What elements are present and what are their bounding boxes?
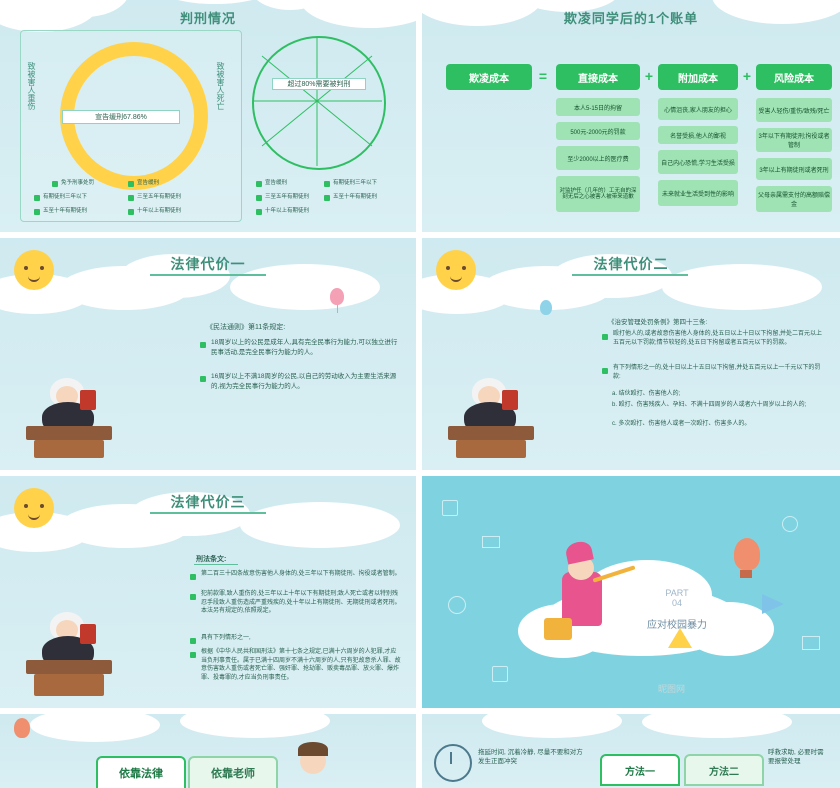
tab-method-1[interactable]: 方法一 xyxy=(600,754,680,786)
judge-desk xyxy=(26,426,112,440)
source-reference: 《民法通则》第11条规定: xyxy=(206,322,285,332)
bullet-dot xyxy=(190,594,196,600)
legend-label: 宣告缓刑 xyxy=(265,178,287,186)
bullet-dot xyxy=(190,638,196,644)
doodle-icon xyxy=(482,536,500,548)
legend-right-item-1: 有期徒刑三年以下 xyxy=(324,178,377,187)
right-chart-note: 超过80%需要被判刑 xyxy=(272,78,366,90)
right-axis-label: 致被害人死亡 xyxy=(215,62,226,110)
book-icon xyxy=(80,390,96,410)
doodle-icon xyxy=(782,516,798,532)
law-bullet-text: 殴打他人的,或者故意伤害他人身体的,处五日以上十日以下拘留,并处二百元以上五百元… xyxy=(613,330,822,347)
cost-item: 本人5-15日的拘留 xyxy=(556,98,640,116)
page-title: 法律代价二 xyxy=(422,254,840,274)
page-title: 判刑情况 xyxy=(0,8,416,27)
polygon-chart-lines xyxy=(252,36,382,166)
legend-left-item-1: 宣告缓刑 xyxy=(128,178,159,187)
legend-dot xyxy=(256,181,262,187)
law-bullet: 根据《中华人民共和国刑法》第十七条之规定,已满十六周岁的人犯罪,才应当负刑事责任… xyxy=(190,648,402,683)
balloon-icon xyxy=(14,718,30,738)
cost-subject-box: 欺凌成本 xyxy=(446,64,532,90)
legend-label: 免予刑事处罚 xyxy=(61,178,94,186)
slide-legal-cost-1: 法律代价一 《民法通则》第11条规定: 18周岁以上的公民是成年人,具有完全民事… xyxy=(0,238,416,470)
bullet-dot xyxy=(200,342,206,348)
law-bullet-text: 根据《中华人民共和国刑法》第十七条之规定,已满十六周岁的人犯罪,才应当负刑事责任… xyxy=(201,648,402,683)
source-reference: 刑法条文: xyxy=(196,554,226,564)
clock-icon xyxy=(434,744,472,782)
book-icon xyxy=(80,624,96,644)
legend-label: 十年以上有期徒刑 xyxy=(265,206,309,214)
title-underline xyxy=(150,512,266,514)
slide-bullying-bill: 欺凌同学后的1个账单 欺凌成本 = 直接成本 + 附加成本 + 风险成本 本人5… xyxy=(422,0,840,232)
doodle-icon xyxy=(492,666,508,682)
law-bullet-text: 有下列情形之一的,处十日以上十五日以下拘留,并处五百元以上一千元以下的罚款: xyxy=(613,364,822,381)
law-bullet: 18周岁以上的公民是成年人,具有完全民事行为能力,可以独立进行民事活动,是完全民… xyxy=(200,338,400,358)
legend-label: 有期徒刑三年以下 xyxy=(333,178,377,186)
law-bullet: 殴打他人的,或者故意伤害他人身体的,处五日以上十日以下拘留,并处二百元以上五百元… xyxy=(602,330,822,347)
slide-judgement-stats: 判刑情况 致被害人重伤 致被害人死亡 宣告缓刑67.86% 超过80%需要被判刑… xyxy=(0,0,416,232)
judge-desk-base xyxy=(456,440,526,458)
law-bullet: 16周岁以上不满18周岁的公民,以自己的劳动收入为主要生活来源的,视为完全民事行… xyxy=(200,372,400,392)
bullet-dot xyxy=(190,652,196,658)
legend-right-item-0: 宣告缓刑 xyxy=(256,178,287,187)
bullet-dot xyxy=(200,376,206,382)
slide-rely-on: 依靠法律 依靠老师 xyxy=(0,714,416,788)
cost-item: 3年以下有期徒刑;拘役或者管制 xyxy=(756,128,832,152)
left-axis-label: 致被害人重伤 xyxy=(26,62,37,110)
legend-left-item-3: 三至五年有期徒刑 xyxy=(128,192,181,201)
legend-left-item-0: 免予刑事处罚 xyxy=(52,178,94,187)
source-underline xyxy=(194,564,238,565)
slide-part-04: PART 04 应对校园暴力 昵图网 xyxy=(422,476,840,708)
legend-right-item-4: 十年以上有期徒刑 xyxy=(256,206,309,215)
legend-label: 三至五年有期徒刑 xyxy=(265,192,309,200)
slide-methods: 拖延时间, 沉着冷静, 尽量不要和对方发生正面冲突 方法一 方法二 呼救求助, … xyxy=(422,714,840,788)
law-bullet: 犯前款罪,致人重伤的,处三年以上十年以下有期徒刑;致人死亡或者以特别残忍手段致人… xyxy=(190,590,402,616)
law-bullet: 有下列情形之一的,处十日以上十五日以下拘留,并处五百元以上一千元以下的罚款: xyxy=(602,364,822,381)
cost-item: 至少2000以上的医疗费 xyxy=(556,146,640,170)
cost-item: 3年以上有期徒刑或者死刑 xyxy=(756,158,832,180)
bullet-dot xyxy=(190,574,196,580)
cost-item: 自己内心恐慌,学习生活受损 xyxy=(658,150,738,174)
bullet-dot xyxy=(602,368,608,374)
page-title: 法律代价一 xyxy=(0,254,416,274)
plus-sign-1: + xyxy=(740,68,754,84)
law-bullet: 具有下列情形之一, xyxy=(190,634,402,644)
source-reference: 《治安管理处罚条例》第四十三条: xyxy=(608,316,707,326)
watermark: 昵图网 xyxy=(658,682,685,695)
legend-dot xyxy=(52,181,58,187)
balloon-icon xyxy=(540,300,552,315)
book-icon xyxy=(502,390,518,410)
slide-grid: 判刑情况 致被害人重伤 致被害人死亡 宣告缓刑67.86% 超过80%需要被判刑… xyxy=(0,0,840,788)
legend-dot xyxy=(34,209,40,215)
hot-air-balloon-icon xyxy=(734,538,760,570)
legend-dot xyxy=(256,195,262,201)
law-bullet-text: 第二百三十四条故意伤害他人身体的,处三年以下有期徒刑、拘役或者管制。 xyxy=(201,570,401,579)
legend-dot xyxy=(34,195,40,201)
doodle-icon xyxy=(448,596,466,614)
cost-item: 父母亲属需支付的高额赔偿金 xyxy=(756,186,832,212)
page-title: 欺凌同学后的1个账单 xyxy=(422,8,840,27)
clock-hand xyxy=(450,752,452,764)
cost-item: 受害人轻伤/重伤/致残/死亡 xyxy=(756,98,832,122)
legend-dot xyxy=(256,209,262,215)
legend-label: 五至十年有期徒刑 xyxy=(333,192,377,200)
judge-desk xyxy=(448,426,534,440)
column-header-2: 风险成本 xyxy=(756,64,832,90)
method-note-right: 呼救求助, 必要时需要报警处理 xyxy=(768,748,830,766)
column-header-0: 直接成本 xyxy=(556,64,640,90)
legend-right-item-3: 五至十年有期徒刑 xyxy=(324,192,377,201)
legend-label: 有期徒刑三年以下 xyxy=(43,192,87,200)
judge-illustration xyxy=(22,368,122,458)
legend-dot xyxy=(324,181,330,187)
law-bullet-text: 具有下列情形之一, xyxy=(201,634,251,643)
legend-left-item-2: 有期徒刑三年以下 xyxy=(34,192,87,201)
judge-illustration xyxy=(444,368,544,458)
legend-dot xyxy=(128,209,134,215)
law-sub-item: b. 殴打、伤害残疾人、孕妇、不满十四周岁的人或者六十周岁以上的人的; xyxy=(612,401,822,410)
cost-item: 名誉受损,他人的鄙视 xyxy=(658,126,738,144)
legend-label: 五至十年有期徒刑 xyxy=(43,206,87,214)
judge-illustration xyxy=(22,602,122,696)
star-icon xyxy=(668,628,692,648)
legend-label: 十年以上有期徒刑 xyxy=(137,206,181,214)
law-sub-item: c. 多次殴打、伤害他人或者一次殴打、伤害多人的。 xyxy=(612,420,822,429)
method-note-left: 拖延时间, 沉着冷静, 尽量不要和对方发生正面冲突 xyxy=(478,748,588,766)
balloon-icon xyxy=(330,288,344,313)
legend-label: 宣告缓刑 xyxy=(137,178,159,186)
slide-legal-cost-2: 法律代价二 《治安管理处罚条例》第四十三条: 殴打他人的,或者故意伤害他人身体的… xyxy=(422,238,840,470)
bullet-dot xyxy=(602,334,608,340)
balloon-basket xyxy=(740,570,752,578)
title-underline xyxy=(150,274,266,276)
character-bag xyxy=(544,618,572,640)
legend-dot xyxy=(128,195,134,201)
law-bullet-text: 18周岁以上的公民是成年人,具有完全民事行为能力,可以独立进行民事活动,是完全民… xyxy=(211,338,400,358)
law-bullet-text: 16周岁以上不满18周岁的公民,以自己的劳动收入为主要生活来源的,视为完全民事行… xyxy=(211,372,400,392)
button-rely-law[interactable]: 依靠法律 xyxy=(96,756,186,788)
judge-desk xyxy=(26,660,112,674)
law-sub-item: a. 结伙殴打、伤害他人的; xyxy=(612,390,822,399)
student-hair xyxy=(298,742,328,756)
slide-legal-cost-3: 法律代价三 刑法条文: 第二百三十四条故意伤害他人身体的,处三年以下有期徒刑、拘… xyxy=(0,476,416,708)
legend-left-item-5: 十年以上有期徒刑 xyxy=(128,206,181,215)
legend-dot xyxy=(324,195,330,201)
legend-right-item-2: 三至五年有期徒刑 xyxy=(256,192,309,201)
paper-plane-icon xyxy=(762,594,784,614)
tab-method-2[interactable]: 方法二 xyxy=(684,754,764,786)
button-rely-teacher[interactable]: 依靠老师 xyxy=(188,756,278,788)
cost-item: 对监护任（几年的）工无自的深刻无后之心被害人被带来道歉 xyxy=(556,176,640,212)
law-bullet-text: 犯前款罪,致人重伤的,处三年以上十年以下有期徒刑;致人死亡或者以特别残忍手段致人… xyxy=(201,590,402,616)
cost-item: 未来就业生活受到性的影响 xyxy=(658,180,738,206)
column-header-1: 附加成本 xyxy=(658,64,738,90)
doodle-icon xyxy=(442,500,458,516)
equals-sign: = xyxy=(534,68,552,84)
page-title: 法律代价三 xyxy=(0,492,416,512)
doodle-icon xyxy=(802,636,820,650)
part-number: PART 04 xyxy=(622,588,732,609)
cost-item: 心情沮丧,家人朋友的担心 xyxy=(658,98,738,120)
title-underline xyxy=(572,274,688,276)
law-bullet: 第二百三十四条故意伤害他人身体的,处三年以下有期徒刑、拘役或者管制。 xyxy=(190,570,402,580)
legend-label: 三至五年有期徒刑 xyxy=(137,192,181,200)
legend-dot xyxy=(128,181,134,187)
cost-item: 500元-2000元的罚款 xyxy=(556,122,640,140)
legend-left-item-4: 五至十年有期徒刑 xyxy=(34,206,87,215)
donut-center-label: 宣告缓刑67.86% xyxy=(62,110,180,124)
plus-sign-0: + xyxy=(642,68,656,84)
judge-desk-base xyxy=(34,674,104,696)
judge-desk-base xyxy=(34,440,104,458)
